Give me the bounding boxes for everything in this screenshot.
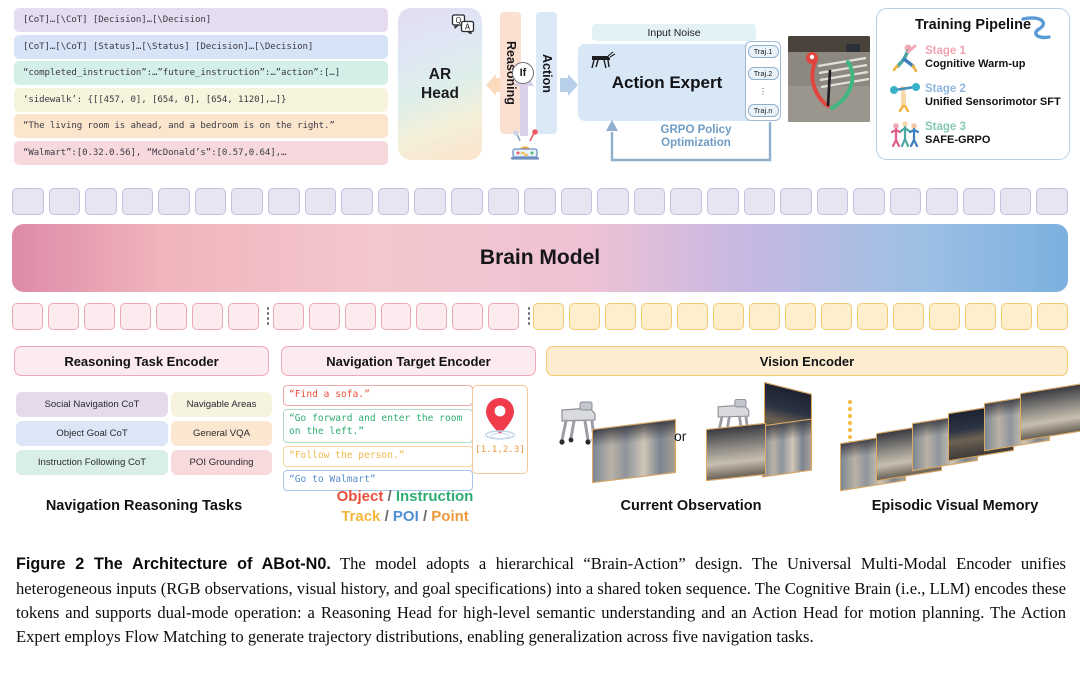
token-cell [707, 188, 739, 215]
navigation-reasoning-task-grid: Social Navigation CoT Navigable Areas Ob… [16, 392, 272, 479]
token-cell [12, 303, 43, 330]
task-chip-object-goal-cot: Object Goal CoT [16, 421, 168, 446]
svg-text:Q: Q [456, 16, 462, 25]
token-cell [85, 188, 117, 215]
legend-separator: / [388, 488, 392, 505]
stretching-person-icon [889, 42, 921, 74]
trajectory-stack: Traj.1 Traj.2 ⋮ Traj.n [745, 41, 781, 121]
token-cell [195, 188, 227, 215]
legend-separator: / [423, 508, 427, 525]
observation-photo-single [592, 419, 676, 483]
navigation-target-encoder: Navigation Target Encoder [281, 346, 536, 376]
nav-target-instruction: “Go forward and enter the room on the le… [283, 409, 473, 443]
action-branch-label: Action [536, 12, 557, 134]
current-observation-group: or [546, 386, 806, 486]
token-row-output [12, 186, 1068, 216]
pipeline-stage-2-number: Stage 2 [925, 82, 1061, 96]
navigation-reasoning-tasks-caption: Navigation Reasoning Tasks [6, 498, 282, 514]
token-cell [12, 188, 44, 215]
token-cell [893, 303, 924, 330]
token-cell [597, 188, 629, 215]
legend-line-2: Track / POI / Point [280, 507, 530, 527]
task-chip-navigable-areas: Navigable Areas [171, 392, 272, 417]
legend-object: Object [337, 488, 384, 505]
token-cell [452, 303, 483, 330]
token-cell [890, 188, 922, 215]
token-cell [817, 188, 849, 215]
grpo-line-1: GRPO Policy [630, 124, 762, 137]
task-chip-instruction-following-cot: Instruction Following CoT [16, 450, 168, 475]
top-band: [CoT]…[\CoT] [Decision]…[\Decision] [CoT… [0, 0, 1080, 175]
episodic-visual-memory-caption: Episodic Visual Memory [838, 498, 1072, 514]
token-cell [488, 188, 520, 215]
current-observation-caption: Current Observation [546, 498, 836, 514]
token-cell [122, 188, 154, 215]
grpo-policy-label: GRPO Policy Optimization [630, 124, 762, 150]
io-example-list: [CoT]…[\CoT] [Decision]…[\Decision] [CoT… [14, 8, 388, 167]
token-cell [963, 188, 995, 215]
token-cell [158, 188, 190, 215]
token-cell [929, 303, 960, 330]
ar-head-label-line1: AR [429, 66, 451, 83]
token-row-input [12, 301, 1068, 331]
task-chip-general-vqa: General VQA [171, 421, 272, 446]
token-cell [1001, 303, 1032, 330]
input-noise-label: Input Noise [592, 24, 756, 41]
weight-lifting-icon [889, 80, 921, 112]
pipeline-stage-3: Stage 3 SAFE-GRPO [889, 117, 1065, 151]
figure-caption: Figure 2 The Architecture of ABot-N0. Th… [16, 552, 1066, 649]
token-cell [634, 188, 666, 215]
token-group-separator [524, 305, 533, 327]
token-cell [381, 303, 412, 330]
token-cell [641, 303, 672, 330]
token-cell [821, 303, 852, 330]
observation-photo-left [706, 423, 766, 481]
io-example-scene-description: “The living room is ahead, and a bedroom… [14, 114, 388, 138]
action-expert-block: Action Expert [578, 44, 756, 121]
token-cell [744, 188, 776, 215]
io-example-poi-coordinates: “Walmart”:[0.32.0.56], “McDonald’s”:[0.5… [14, 141, 388, 165]
task-chip-social-navigation-cot: Social Navigation CoT [16, 392, 168, 417]
nav-target-object: “Find a sofa.” [283, 385, 473, 406]
observation-photo-front [762, 418, 812, 477]
trajectory-ellipsis: ⋮ [759, 88, 767, 95]
reasoning-task-encoder: Reasoning Task Encoder [14, 346, 269, 376]
trajectory-1: Traj.1 [748, 45, 779, 58]
pipeline-stage-1-number: Stage 1 [925, 44, 1025, 58]
pipeline-stage-1: Stage 1 Cognitive Warm-up [889, 41, 1065, 75]
trajectory-2: Traj.2 [748, 67, 779, 80]
navigation-target-legend: Object / Instruction Track / POI / Point [280, 487, 530, 526]
token-cell [569, 303, 600, 330]
token-cell [785, 303, 816, 330]
token-cell [120, 303, 151, 330]
figure-architecture: [CoT]…[\CoT] [Decision]…[\Decision] [CoT… [0, 0, 1080, 690]
token-cell [192, 303, 223, 330]
token-cell [451, 188, 483, 215]
legend-separator: / [385, 508, 389, 525]
io-example-cot-status-decision: [CoT]…[\CoT] [Status]…[\Status] [Decisio… [14, 35, 388, 59]
token-cell [414, 188, 446, 215]
token-cell [231, 188, 263, 215]
token-cell [670, 188, 702, 215]
ar-head-label: AR Head [421, 65, 459, 104]
navigation-target-examples: “Find a sofa.” “Go forward and enter the… [283, 385, 473, 494]
pipeline-stage-3-number: Stage 3 [925, 120, 990, 134]
grpo-line-2: Optimization [630, 137, 762, 150]
qa-bubbles-icon: Q A [451, 14, 475, 34]
token-cell [268, 188, 300, 215]
token-cell [1037, 303, 1068, 330]
token-cell [48, 303, 79, 330]
task-row: Instruction Following CoT POI Grounding [16, 450, 272, 475]
pipeline-stage-2-name: Unified Sensorimotor SFT [925, 96, 1061, 110]
trajectory-overlay-photo [788, 36, 870, 122]
token-cell [749, 303, 780, 330]
token-cell [605, 303, 636, 330]
token-cell [853, 188, 885, 215]
legend-point: Point [431, 508, 469, 525]
training-pipeline-card: Training Pipeline Stage 1 Cognitive Warm… [876, 8, 1070, 160]
legend-line-1: Object / Instruction [280, 487, 530, 507]
nav-target-point-card: [1.1,2.3] [472, 385, 528, 474]
token-cell [533, 303, 564, 330]
pipeline-stage-2: Stage 2 Unified Sensorimotor SFT [889, 79, 1065, 113]
observation-or-label: or [674, 428, 686, 444]
nav-target-point-coordinate: [1.1,2.3] [475, 444, 525, 455]
memory-frame-6 [1020, 383, 1080, 441]
token-cell [345, 303, 376, 330]
action-expert-title: Action Expert [612, 73, 723, 93]
token-cell [49, 188, 81, 215]
token-cell [926, 188, 958, 215]
token-cell [273, 303, 304, 330]
token-cell [305, 188, 337, 215]
pipeline-stage-1-name: Cognitive Warm-up [925, 58, 1025, 72]
task-row: Object Goal CoT General VQA [16, 421, 272, 446]
legend-poi: POI [393, 508, 419, 525]
token-cell [309, 303, 340, 330]
token-cell [524, 188, 556, 215]
token-cell [341, 188, 373, 215]
token-cell [156, 303, 187, 330]
brain-model-label: Brain Model [480, 246, 600, 270]
token-cell [84, 303, 115, 330]
ar-head-block: AR Head Q A [398, 8, 482, 160]
ar-head-label-line2: Head [421, 85, 459, 102]
robot-dog-icon [586, 49, 616, 69]
trajectory-n: Traj.n [748, 104, 779, 117]
if-condition-node: If [512, 62, 534, 84]
token-cell [488, 303, 519, 330]
token-cell [677, 303, 708, 330]
pipeline-stage-3-name: SAFE-GRPO [925, 134, 990, 148]
token-cell [1036, 188, 1068, 215]
task-row: Social Navigation CoT Navigable Areas [16, 392, 272, 417]
io-example-instruction-action: “completed_instruction”:…”future_instruc… [14, 61, 388, 85]
token-cell [713, 303, 744, 330]
token-cell [561, 188, 593, 215]
token-cell [780, 188, 812, 215]
task-chip-poi-grounding: POI Grounding [171, 450, 272, 475]
vision-encoder: Vision Encoder [546, 346, 1068, 376]
token-group-separator [264, 305, 273, 327]
legend-track: Track [341, 508, 380, 525]
svg-text:A: A [465, 22, 471, 31]
token-cell [228, 303, 259, 330]
map-pin-icon [481, 394, 519, 442]
arrow-to-action-expert-icon [558, 74, 580, 96]
nav-target-track: “Follow the person.” [283, 446, 473, 467]
action-branch-bar: Action [536, 12, 557, 134]
brain-model-block: Brain Model [12, 224, 1068, 292]
token-cell [857, 303, 888, 330]
token-cell [1000, 188, 1032, 215]
episodic-visual-memory-group [838, 386, 1072, 486]
io-example-sidewalk-polygon: ‘sidewalk’: {[[457, 0], [654, 0], [654, … [14, 88, 388, 112]
token-cell [416, 303, 447, 330]
figure-caption-title: Figure 2 The Architecture of ABot-N0. [16, 555, 331, 573]
io-example-cot-decision: [CoT]…[\CoT] [Decision]…[\Decision] [14, 8, 388, 32]
token-cell [965, 303, 996, 330]
token-cell [378, 188, 410, 215]
legend-instruction: Instruction [396, 488, 474, 505]
group-celebrating-icon [889, 118, 921, 150]
